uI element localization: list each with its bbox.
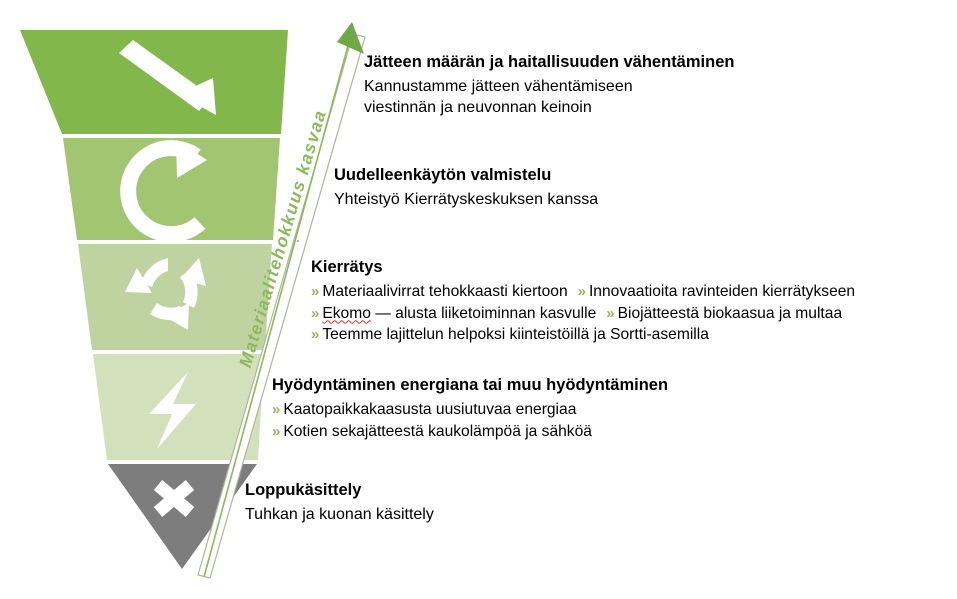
tier-line-final-1: Tuhkan ja kuonan käsittely — [245, 504, 434, 525]
tier-bullets-energy: »Kaatopaikkakaasusta uusiutuvaa energiaa… — [272, 399, 668, 443]
bullet-text: Kotien sekajätteestä kaukolämpöä ja sähk… — [283, 423, 592, 440]
decorative-speck — [297, 240, 299, 242]
tier-line-reduce-2: viestinnän ja neuvonnan keinoin — [364, 97, 734, 118]
tier-text-energy: Hyödyntäminen energiana tai muu hyödyntä… — [272, 375, 668, 442]
bullet-text: Materiaalivirrat tehokkaasti kiertoon — [322, 283, 567, 300]
tier-bullets-recycle: »Materiaalivirrat tehokkaasti kiertoon»I… — [311, 281, 855, 347]
tier-text-reuse: Uudelleenkäytön valmistelu Yhteistyö Kie… — [334, 165, 598, 210]
bullet-marker-icon: » — [568, 283, 589, 300]
bullet-text: Biojätteestä biokaasua ja multaa — [618, 305, 843, 322]
bullet-marker-icon: » — [311, 305, 322, 322]
bullet-marker-icon: » — [311, 283, 322, 300]
bullet-text: — alusta liiketoiminnan kasvulle — [371, 305, 596, 322]
list-item: »Materiaalivirrat tehokkaasti kiertoon»I… — [311, 281, 855, 303]
tier-line-reduce-1: Kannustamme jätteen vähentämiseen — [364, 76, 734, 97]
tier-heading-energy: Hyödyntäminen energiana tai muu hyödyntä… — [272, 375, 668, 396]
bullet-marker-icon: » — [311, 326, 322, 343]
tier-heading-final-disposal: Loppukäsittely — [245, 480, 434, 501]
tier-text-reduce: Jätteen määrän ja haitallisuuden vähentä… — [364, 52, 734, 118]
bullet-text: Kaatopaikkakaasusta uusiutuvaa energiaa — [283, 401, 576, 418]
tier-heading-reuse: Uudelleenkäytön valmistelu — [334, 165, 598, 186]
bullet-text-misspelled: Ekomo — [322, 305, 371, 322]
list-item: »Teemme lajittelun helpoksi kiinteistöil… — [311, 324, 855, 346]
tier-line-reuse-1: Yhteistyö Kierrätyskeskuksen kanssa — [334, 189, 598, 210]
bullet-marker-icon: » — [272, 423, 283, 440]
bullet-marker-icon: » — [596, 305, 617, 322]
list-item: »Ekomo — alusta liiketoiminnan kasvulle»… — [311, 303, 855, 325]
tier-text-recycle: Kierrätys »Materiaalivirrat tehokkaasti … — [311, 257, 855, 346]
bullet-text: Innovaatioita ravinteiden kierrätykseen — [589, 283, 855, 300]
waste-hierarchy-diagram: Materiaalitehokkuus kasvaa Jätteen määrä… — [0, 0, 957, 599]
bullet-text: Teemme lajittelun helpoksi kiinteistöill… — [322, 326, 709, 343]
list-item: »Kotien sekajätteestä kaukolämpöä ja säh… — [272, 421, 668, 443]
tier-heading-recycle: Kierrätys — [311, 257, 855, 278]
list-item: »Kaatopaikkakaasusta uusiutuvaa energiaa — [272, 399, 668, 421]
tier-text-final-disposal: Loppukäsittely Tuhkan ja kuonan käsittel… — [245, 480, 434, 525]
tier-heading-reduce: Jätteen määrän ja haitallisuuden vähentä… — [364, 52, 734, 73]
bullet-marker-icon: » — [272, 401, 283, 418]
